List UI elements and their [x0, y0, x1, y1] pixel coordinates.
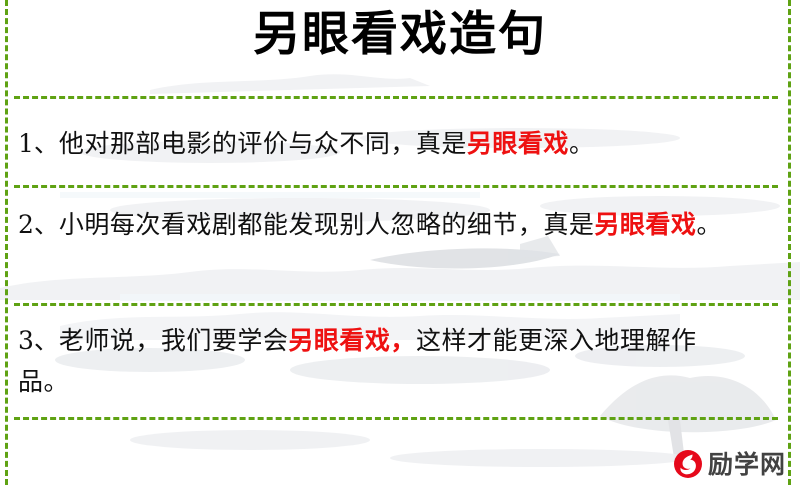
sentence-text-before-1: 他对那部电影的评价与众不同，真是 — [59, 129, 467, 158]
sentence-text-before-3: 老师说，我们要学会 — [59, 326, 289, 355]
sentence-text-after-2: 。 — [696, 210, 722, 239]
sentence-number-3: 3、 — [18, 326, 59, 355]
frame-border-left — [5, 0, 8, 485]
separator-after-2 — [14, 303, 778, 306]
separator-top — [14, 96, 778, 99]
page-root: 另眼看戏造句 1、他对那部电影的评价与众不同，真是另眼看戏。 2、小明每次看戏剧… — [0, 0, 800, 485]
sentence-item-1: 1、他对那部电影的评价与众不同，真是另眼看戏。 — [18, 123, 776, 164]
sentence-number-2: 2、 — [18, 210, 59, 239]
frame-border-right — [788, 0, 791, 485]
page-title-container: 另眼看戏造句 — [0, 8, 800, 62]
flame-bird-logo-icon — [673, 449, 703, 479]
sentence-text-after-1: 。 — [569, 129, 595, 158]
sentence-item-3: 3、老师说，我们要学会另眼看戏，这样才能更深入地理解作品。 — [18, 320, 744, 402]
watermark-brand-text: 励学网 — [708, 452, 786, 477]
sentence-number-1: 1、 — [18, 129, 59, 158]
sentence-text-before-2: 小明每次看戏剧都能发现别人忽略的细节，真是 — [59, 210, 595, 239]
sentence-item-2: 2、小明每次看戏剧都能发现别人忽略的细节，真是另眼看戏。 — [18, 204, 730, 245]
watermark-logo: 励学网 — [673, 449, 786, 479]
sentence-keyword-3: 另眼看戏， — [288, 326, 416, 355]
sentence-keyword-2: 另眼看戏 — [594, 210, 696, 239]
separator-bottom — [14, 417, 778, 420]
sentence-keyword-1: 另眼看戏 — [467, 129, 569, 158]
page-title: 另眼看戏造句 — [253, 8, 547, 62]
separator-after-1 — [14, 185, 778, 188]
